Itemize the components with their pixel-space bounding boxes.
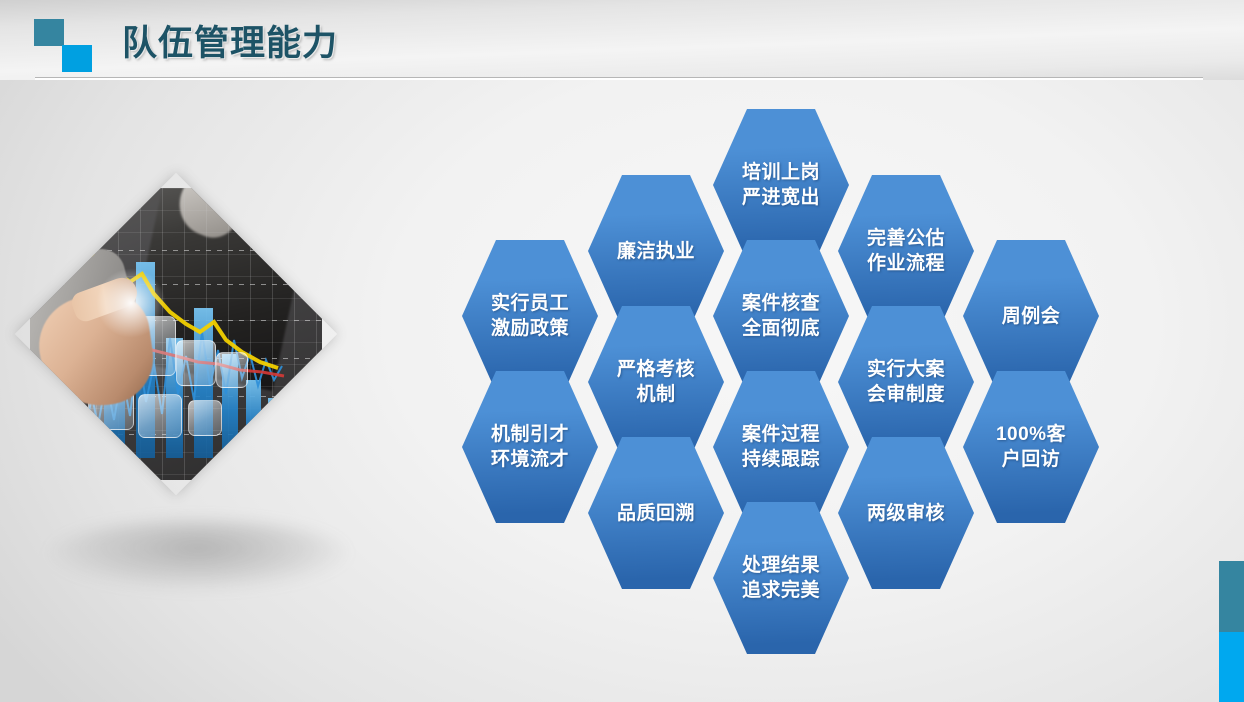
hexagon-label: 100%客 户回访: [996, 422, 1066, 472]
hexagon-label: 品质回溯: [617, 501, 695, 526]
accent-bar-top: [1219, 561, 1244, 632]
hexagon-label: 机制引才 环境流才: [491, 422, 569, 472]
accent-bar-bottom: [1219, 632, 1244, 702]
hexagon-label: 培训上岗 严进宽出: [742, 160, 820, 210]
slide-canvas: 队伍管理能力: [0, 0, 1244, 702]
hexagon-label: 两级审核: [867, 501, 945, 526]
hexagon-label: 案件过程 持续跟踪: [742, 422, 820, 472]
hexagon-cluster: 实行员工 激励政策机制引才 环境流才廉洁执业严格考核 机制品质回溯培训上岗 严进…: [0, 0, 1244, 702]
hexagon-3-2[interactable]: 案件核查 全面彻底: [713, 240, 849, 392]
hexagon-label: 实行员工 激励政策: [491, 291, 569, 341]
hexagon-label: 处理结果 追求完美: [742, 553, 820, 603]
hexagon-label: 实行大案 会审制度: [867, 357, 945, 407]
hexagon-2-1[interactable]: 廉洁执业: [588, 175, 724, 327]
hexagon-label: 周例会: [1002, 304, 1061, 329]
hexagon-5-1[interactable]: 周例会: [963, 240, 1099, 392]
hexagon-1-1[interactable]: 实行员工 激励政策: [462, 240, 598, 392]
hexagon-4-3[interactable]: 两级审核: [838, 437, 974, 589]
hexagon-label: 案件核查 全面彻底: [742, 291, 820, 341]
hexagon-4-1[interactable]: 完善公估 作业流程: [838, 175, 974, 327]
hexagon-label: 廉洁执业: [617, 239, 695, 264]
hexagon-label: 完善公估 作业流程: [867, 226, 945, 276]
hexagon-3-3[interactable]: 案件过程 持续跟踪: [713, 371, 849, 523]
hexagon-3-4[interactable]: 处理结果 追求完美: [713, 502, 849, 654]
hexagon-2-2[interactable]: 严格考核 机制: [588, 306, 724, 458]
hexagon-label: 严格考核 机制: [617, 357, 695, 407]
hexagon-2-3[interactable]: 品质回溯: [588, 437, 724, 589]
hexagon-5-2[interactable]: 100%客 户回访: [963, 371, 1099, 523]
hexagon-3-1[interactable]: 培训上岗 严进宽出: [713, 109, 849, 261]
hexagon-4-2[interactable]: 实行大案 会审制度: [838, 306, 974, 458]
hexagon-1-2[interactable]: 机制引才 环境流才: [462, 371, 598, 523]
